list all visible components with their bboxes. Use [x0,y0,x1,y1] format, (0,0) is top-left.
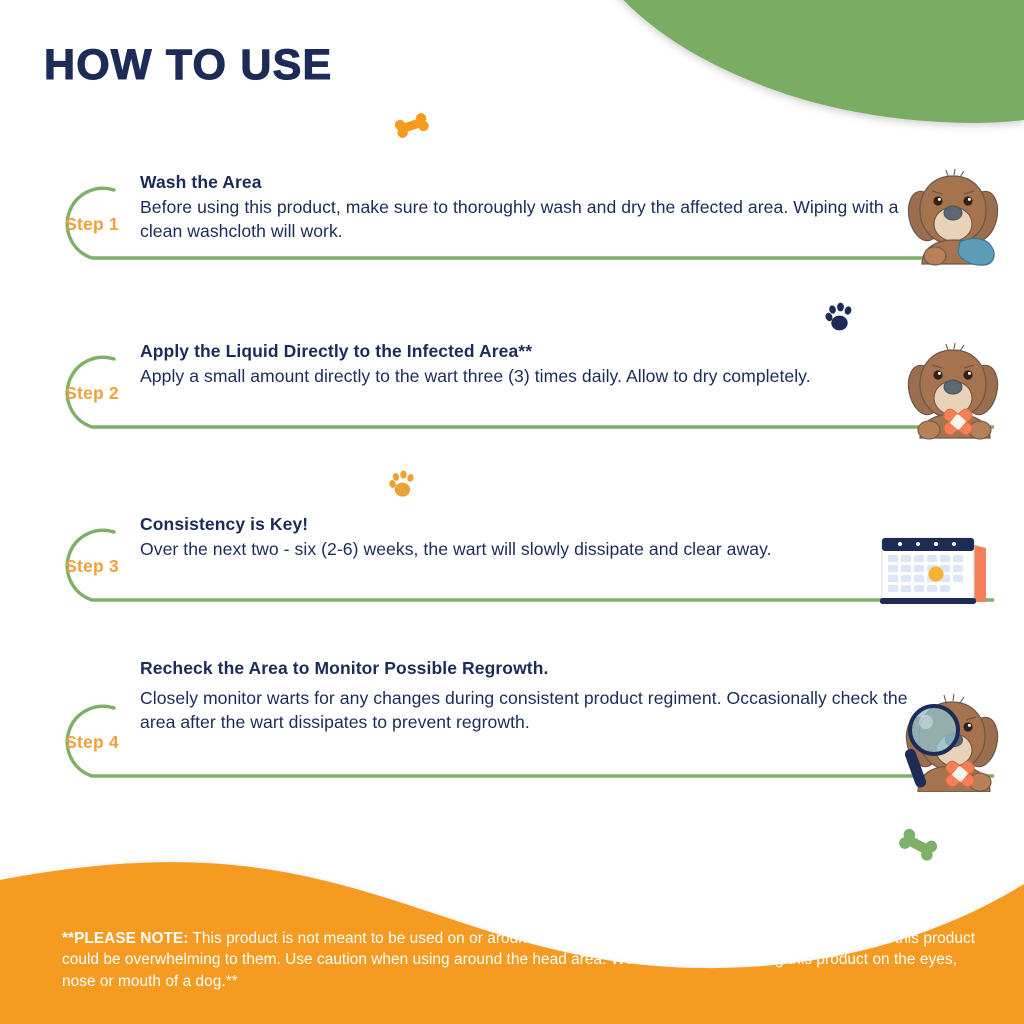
step-badge-label-3: Step 3 [44,518,140,614]
illustration-desk-calendar [874,532,998,610]
illustration-dog-with-bandages [898,342,1012,440]
footer-note: **PLEASE NOTE: This product is not meant… [62,928,987,992]
step-content-3: Consistency is Key! Over the next two - … [140,514,900,562]
step-headline-3: Consistency is Key! [140,514,900,535]
step-content-4: Recheck the Area to Monitor Possible Reg… [140,658,920,735]
bone-icon-green [895,825,941,865]
step-text-1: Before using this product, make sure to … [140,196,900,244]
step-headline-1: Wash the Area [140,172,900,193]
step-text-3: Over the next two - six (2-6) weeks, the… [140,538,900,562]
paw-icon-orange [386,468,418,500]
step-badge-4[interactable]: Step 4 [44,694,140,790]
step-badge-1[interactable]: Step 1 [44,176,140,272]
illustration-dog-with-washcloth [898,168,1010,266]
page-title: HOW TO USE [44,44,332,87]
step-text-4: Closely monitor warts for any changes du… [140,687,920,735]
footer-note-text: This product is not meant to be used on … [62,930,975,990]
step-text-2: Apply a small amount directly to the war… [140,365,930,389]
step-content-1: Wash the Area Before using this product,… [140,172,900,244]
step-content-2: Apply the Liquid Directly to the Infecte… [140,341,930,389]
step-badge-label-2: Step 2 [44,345,140,441]
step-badge-label-4: Step 4 [44,694,140,790]
step-headline-2: Apply the Liquid Directly to the Infecte… [140,341,930,362]
step-badge-label-1: Step 1 [44,176,140,272]
footer-note-label: **PLEASE NOTE: [62,930,188,947]
step-badge-2[interactable]: Step 2 [44,345,140,441]
illustration-dog-with-magnifying-glass [896,692,1012,792]
green-blob-shape [614,0,1024,123]
step-badge-3[interactable]: Step 3 [44,518,140,614]
infographic-canvas: HOW TO USE [0,0,1024,1024]
paw-icon-navy [822,300,856,334]
step-headline-4: Recheck the Area to Monitor Possible Reg… [140,658,920,679]
bone-icon-orange [392,110,432,142]
background-shapes [0,0,1024,1024]
